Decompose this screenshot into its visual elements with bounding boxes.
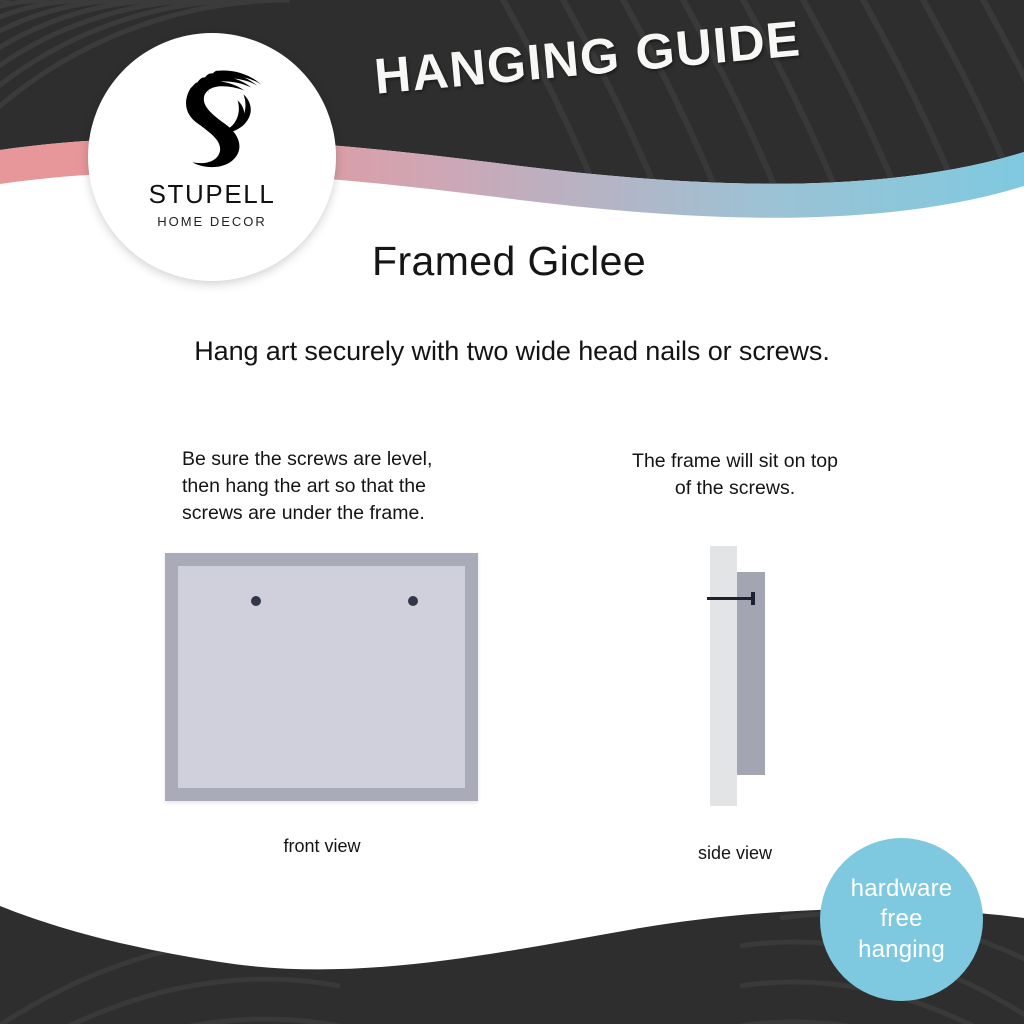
side-caption-line-2: of the screws. [600, 475, 870, 502]
front-caption-line-2: then hang the art so that the [182, 473, 482, 500]
side-view-frame-diagram [705, 546, 775, 806]
hardware-free-hanging-badge: hardware free hanging [820, 838, 983, 1001]
side-view-label: side view [640, 843, 830, 864]
front-view-mat [178, 566, 465, 788]
side-view-caption: The frame will sit on top of the screws. [600, 448, 870, 502]
side-caption-line-1: The frame will sit on top [600, 448, 870, 475]
screw-dot-right [408, 596, 418, 606]
logo-wordmark: STUPELL [149, 181, 276, 207]
front-view-frame-diagram [165, 553, 478, 801]
logo-subwordmark: HOME DECOR [157, 215, 267, 228]
screw-dot-left [251, 596, 261, 606]
nail-shaft-icon [707, 597, 754, 600]
product-name: Framed Giclee [372, 238, 646, 285]
stupell-swoosh-icon [153, 61, 271, 179]
badge-line-2: free [880, 904, 922, 934]
front-caption-line-1: Be sure the screws are level, [182, 446, 482, 473]
main-instruction: Hang art securely with two wide head nai… [0, 336, 1024, 367]
front-view-caption: Be sure the screws are level, then hang … [182, 446, 482, 527]
front-caption-line-3: screws are under the frame. [182, 500, 482, 527]
badge-line-3: hanging [858, 935, 945, 965]
hanging-guide-page: STUPELL HOME DECOR HANGING GUIDE Framed … [0, 0, 1024, 1024]
wall-strip [710, 546, 737, 806]
badge-line-1: hardware [851, 874, 953, 904]
page-title: HANGING GUIDE [372, 2, 885, 106]
nail-head-icon [751, 592, 755, 605]
stupell-logo-badge: STUPELL HOME DECOR [88, 33, 336, 281]
front-view-label: front view [222, 836, 422, 857]
